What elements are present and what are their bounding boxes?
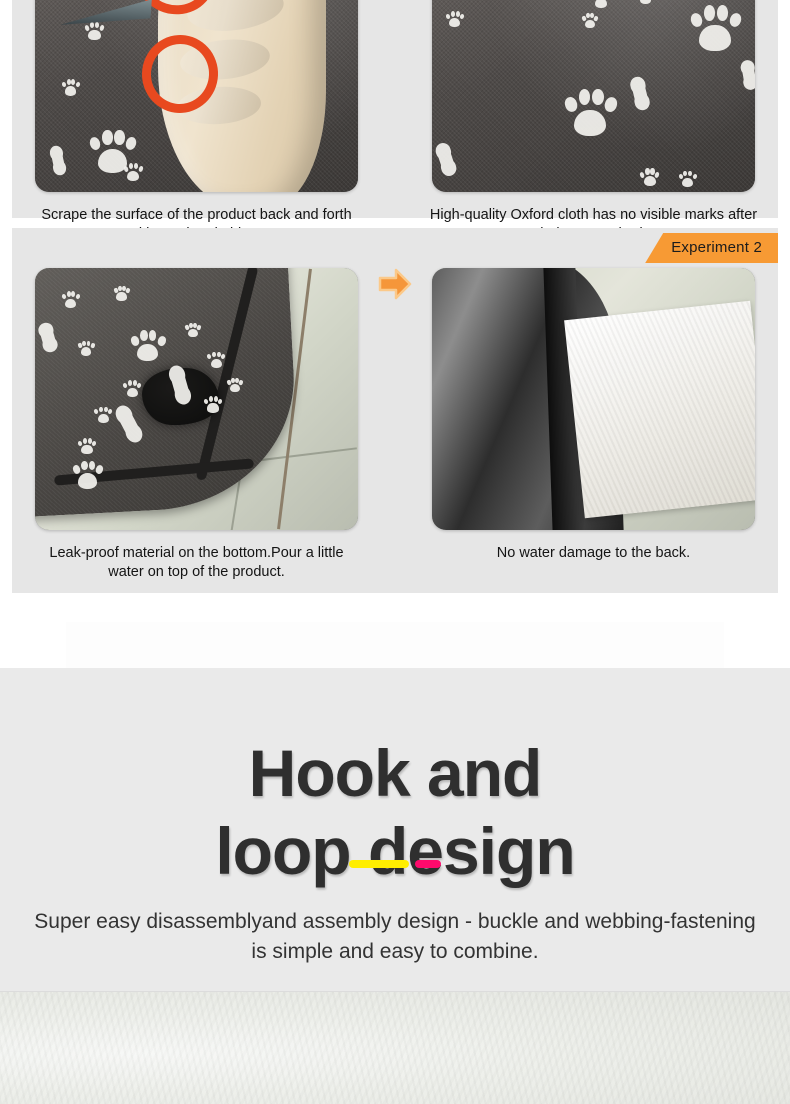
hero-subtitle: Super easy disassemblyand assembly desig… — [24, 907, 766, 967]
paw-print-icon — [445, 9, 465, 29]
paw-print-icon — [93, 404, 113, 424]
rule-pink — [415, 860, 441, 868]
paw-print-icon — [129, 326, 167, 364]
rule-yellow — [349, 860, 409, 868]
page-title-line-2: loop design — [0, 812, 790, 890]
paw-print-icon — [77, 339, 95, 357]
experiment-1-panel: Experiment 1 — [12, 0, 778, 218]
paw-print-icon — [206, 349, 226, 369]
experiment-2-step-2-caption: No water damage to the back. — [429, 544, 759, 563]
experiment-1-step-2-photo — [432, 0, 755, 192]
hook-and-loop-hero-section: Hook and loop design Super easy disassem… — [0, 668, 790, 991]
paw-print-icon — [226, 375, 244, 393]
experiment-2-step-row: Leak-proof material on the bottom.Pour a… — [12, 268, 778, 582]
experiment-2-step-1: Leak-proof material on the bottom.Pour a… — [24, 268, 369, 582]
experiment-2-step-2: No water damage to the back. — [421, 268, 766, 563]
bone-print-icon — [741, 64, 755, 86]
experiment-2-step-2-photo — [432, 268, 755, 530]
paw-print-icon — [581, 11, 599, 29]
dry-tissue-paper — [564, 301, 755, 519]
paw-print-icon — [639, 166, 661, 188]
title-underline-rules — [0, 860, 790, 868]
paw-print-icon — [635, 0, 655, 5]
arrow-right-icon — [378, 268, 412, 300]
experiment-1-step-2: High-quality Oxford cloth has no visible… — [421, 0, 766, 244]
experiment-1-step-1: Scrape the surface of the product back a… — [24, 0, 369, 244]
paw-print-icon — [561, 82, 619, 140]
paw-print-icon — [113, 284, 131, 302]
paw-print-icon — [203, 394, 223, 414]
experiment-2-step-1-caption: Leak-proof material on the bottom.Pour a… — [32, 544, 362, 582]
paw-print-icon — [122, 378, 142, 398]
paw-print-icon — [122, 161, 144, 183]
paw-print-icon — [687, 0, 743, 54]
paw-print-icon — [184, 320, 202, 338]
paw-print-icon — [590, 0, 612, 10]
faint-placeholder-card — [66, 622, 724, 668]
experiment-2-step-1-photo — [35, 268, 358, 530]
paw-print-icon — [71, 457, 105, 491]
experiment-2-panel: Experiment 2 — [12, 228, 778, 593]
page-title-line-1: Hook and — [0, 734, 790, 812]
paw-print-icon — [61, 289, 81, 309]
bottom-texture-photo — [0, 991, 790, 1104]
paw-print-icon — [677, 168, 697, 188]
experiment-1-step-row: Scrape the surface of the product back a… — [12, 0, 778, 244]
bone-print-icon — [50, 150, 65, 172]
paw-print-icon — [61, 77, 81, 97]
step-arrow-2 — [369, 268, 421, 300]
experiment-2-badge: Experiment 2 — [645, 233, 778, 263]
experiment-1-step-1-photo — [35, 0, 358, 192]
paw-print-icon — [77, 436, 97, 456]
